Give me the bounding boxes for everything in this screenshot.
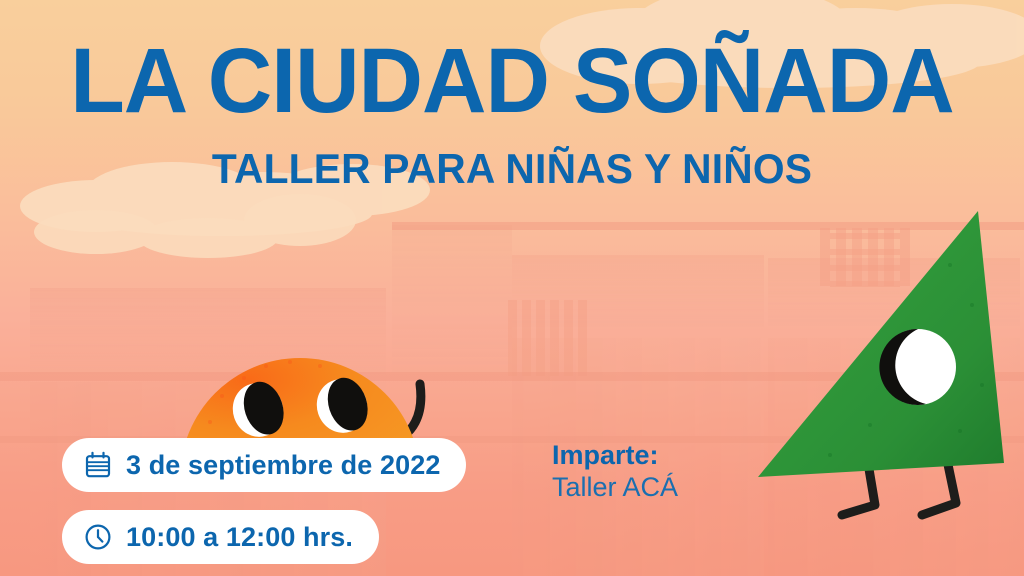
page-title: LA CIUDAD SOÑADA — [15, 0, 1008, 126]
headline-group: LA CIUDAD SOÑADA TALLER PARA NIÑAS Y NIÑ… — [0, 0, 1024, 190]
green-character-leg-left — [842, 463, 875, 515]
green-character-body — [758, 211, 1004, 477]
orange-character-eye-left — [226, 377, 290, 444]
time-pill: 10:00 a 12:00 hrs. — [62, 510, 379, 564]
green-character-grain — [828, 263, 984, 457]
time-text: 10:00 a 12:00 hrs. — [126, 522, 353, 553]
calendar-icon — [84, 451, 112, 479]
cloud-bottom-left — [34, 194, 356, 258]
date-pill: 3 de septiembre de 2022 — [62, 438, 466, 492]
credit-value: Taller ACÁ — [552, 472, 678, 504]
green-character-illustration — [750, 205, 1024, 535]
poster: LA CIUDAD SOÑADA TALLER PARA NIÑAS Y NIÑ… — [0, 0, 1024, 576]
shelf-lines — [830, 236, 900, 284]
shelf-rails — [0, 222, 1024, 443]
shelf-books — [508, 228, 910, 376]
green-character-eye — [879, 329, 956, 405]
orange-character-arm — [388, 384, 421, 443]
credit-block: Imparte: Taller ACÁ — [552, 440, 678, 504]
orange-character-eye-right — [310, 373, 374, 440]
credit-label: Imparte: — [552, 440, 678, 472]
clock-icon — [84, 523, 112, 551]
green-triangle-character — [750, 205, 1024, 535]
green-character-leg-right — [922, 455, 956, 515]
page-subtitle: TALLER PARA NIÑAS Y NIÑOS — [15, 126, 1008, 190]
date-text: 3 de septiembre de 2022 — [126, 450, 440, 481]
green-character-legs — [842, 455, 956, 515]
